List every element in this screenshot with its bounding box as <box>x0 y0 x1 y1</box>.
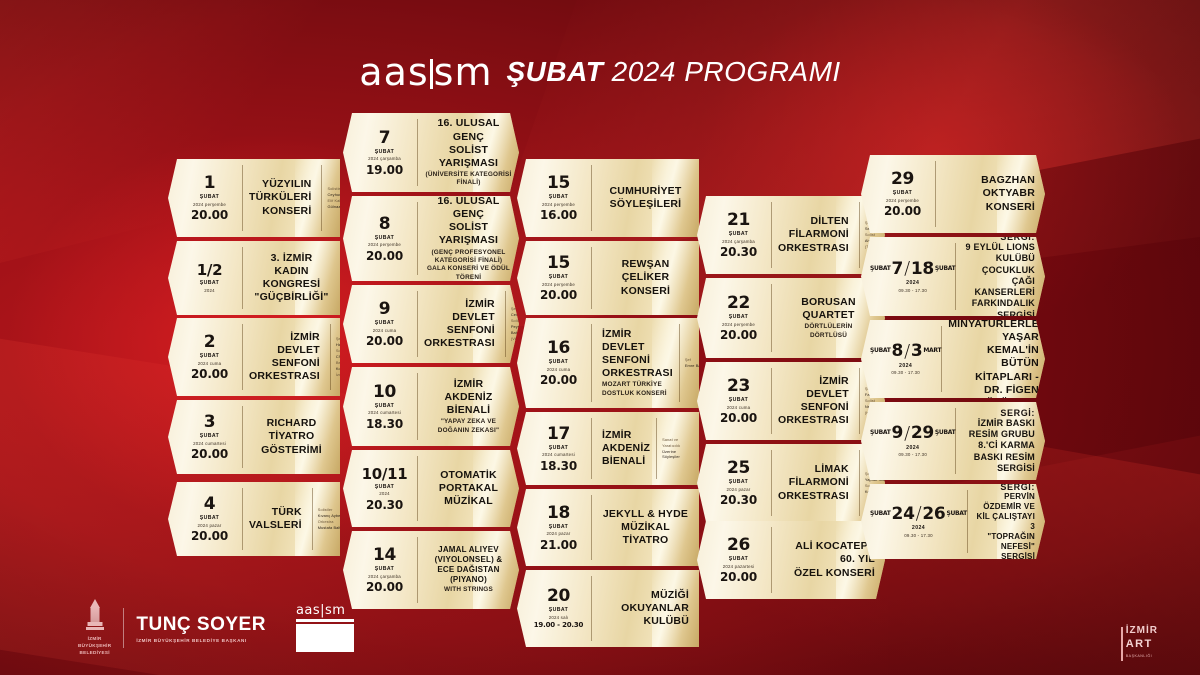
event-card[interactable]: 7ŞUBAT2024 çarşamba19.0016. ULUSAL GENÇS… <box>343 113 519 192</box>
event-month: ŞUBAT <box>200 194 219 201</box>
event-body: RICHARDTİYATRO GÖSTERİMİ <box>243 400 340 474</box>
event-title: İZMİR DEVLETSENFONİORKESTRASI <box>778 375 849 428</box>
event-title: 16. ULUSAL GENÇSOLİST YARIŞMASI <box>424 196 513 248</box>
event-time: 20.00 <box>191 368 228 380</box>
event-day: 9 <box>379 301 391 318</box>
event-day: 26 <box>727 537 750 554</box>
event-body: 16. ULUSAL GENÇSOLİST YARIŞMASI(ÜNİVERSİ… <box>418 113 519 192</box>
event-title: DİLTENFİLARMONİORKESTRASI <box>778 215 849 254</box>
event-month: ŞUBAT <box>549 445 568 452</box>
event-date-block: 23ŞUBAT2024 cuma20.00 <box>697 362 771 440</box>
izmir-municipality-logo: İZMİR BÜYÜKŞEHİR BELEDİYESİ <box>78 599 111 657</box>
mayor-role: İZMİR BÜYÜKŞEHİR BELEDİYE BAŞKANI <box>136 638 266 643</box>
event-date-meta: 2024 perşembe <box>542 282 575 288</box>
event-title: BAGZHAN OKTYABRKONSERİ <box>942 174 1035 213</box>
event-date-meta: 2024 perşembe <box>542 202 575 208</box>
event-date-meta: 2024 cuma <box>727 405 751 411</box>
event-card[interactable]: 2ŞUBAT2024 cuma20.00İZMİR DEVLETSENFONİO… <box>168 318 340 396</box>
event-month: ŞUBAT <box>549 524 568 531</box>
event-day: ŞUBAT24/26ŞUBAT <box>870 505 967 523</box>
event-card[interactable]: 18ŞUBAT2024 pazar21.00JEKYLL & HYDEMÜZİK… <box>517 489 699 566</box>
event-day: 7 <box>379 130 391 147</box>
event-date-meta: 2024 pazartesi <box>723 564 755 570</box>
event-month: ŞUBAT <box>729 231 748 238</box>
event-body: İZMİR DEVLETSENFONİORKESTRASI <box>418 285 505 363</box>
event-month: ŞUBAT <box>549 194 568 201</box>
event-date-block: 2ŞUBAT2024 cuma20.00 <box>168 318 242 396</box>
event-title: YÜZYILINTÜRKÜLERİKONSERİ <box>249 178 311 217</box>
event-cast: SolistlerKıvanç AybetiOrkestraMustafa Ba… <box>312 488 340 550</box>
event-date-block: 29ŞUBAT2024 perşembe20.00 <box>861 155 935 233</box>
event-card[interactable]: 25ŞUBAT2024 pazar20.30LİMAKFİLARMONİORKE… <box>697 444 885 522</box>
aassm-logo-text: aassm <box>359 50 492 94</box>
event-card[interactable]: ŞUBAT8/3MART202409.30 - 17.30SERGİ:MİNYA… <box>861 320 1045 398</box>
event-month: 2024 <box>906 445 919 452</box>
event-time: 20.30 <box>366 499 403 511</box>
event-date-meta: 2024 perşembe <box>886 198 919 204</box>
event-time: 20.00 <box>366 335 403 347</box>
event-date-meta: 2024 perşembe <box>368 242 401 248</box>
event-day: ŞUBAT7/18ŞUBAT <box>870 260 955 278</box>
event-day: ŞUBAT8/3MART <box>870 343 941 361</box>
event-time: 20.00 <box>540 289 577 301</box>
event-date-meta: 2024 pazar <box>547 531 571 537</box>
event-month: 2024 <box>899 363 912 370</box>
event-date-meta: 09.30 - 17.30 <box>904 533 932 539</box>
event-month: ŞUBAT <box>200 353 219 360</box>
event-month: ŞUBAT <box>375 149 394 156</box>
event-cast: SolistlerCeyhun AkbaşElif KalfaGülnaz Şe… <box>321 165 340 231</box>
event-body: REWŞAN ÇELİKERKONSERİ <box>592 241 699 315</box>
event-date-meta: 2024 çarşamba <box>368 574 401 580</box>
event-month: ŞUBAT <box>729 556 748 563</box>
logo-divider-bar <box>430 59 433 89</box>
exhibition-label: SERGİ: <box>1000 484 1035 492</box>
event-body: BAGZHAN OKTYABRKONSERİ <box>936 155 1045 233</box>
event-day: 17 <box>547 426 570 443</box>
event-body: 3. İZMİRKADIN KONGRESİ"GÜÇBİRLİĞİ" <box>243 241 340 315</box>
event-month: ŞUBAT <box>375 403 394 410</box>
event-date-block: 17ŞUBAT2024 cumartesi18.30 <box>517 412 591 485</box>
event-title: MİNYATÜRLERLEYAŞAR KEMAL'İNBÜTÜN KİTAPLA… <box>948 320 1039 398</box>
event-day: 2 <box>204 334 216 351</box>
event-date-block: 21ŞUBAT2024 çarşamba20.30 <box>697 196 771 274</box>
event-card[interactable]: 1/2ŞUBAT20243. İZMİRKADIN KONGRESİ"GÜÇBİ… <box>168 241 340 315</box>
mayor-block: TUNÇ SOYER İZMİR BÜYÜKŞEHİR BELEDİYE BAŞ… <box>136 614 266 643</box>
poster-header: aassmŞUBAT 2024 PROGRAMI <box>0 50 1200 94</box>
event-month: ŞUBAT <box>375 566 394 573</box>
event-card[interactable]: 17ŞUBAT2024 cumartesi18.30İZMİRAKDENİZBİ… <box>517 412 699 485</box>
event-month: ŞUBAT <box>729 479 748 486</box>
event-day: 22 <box>727 295 750 312</box>
event-date-meta: 2024 çarşamba <box>722 239 755 245</box>
event-card[interactable]: 16ŞUBAT2024 cuma20.00İZMİR DEVLETSENFONİ… <box>517 318 699 408</box>
event-body: SERGİ:İZMİR BASKI RESİM GRUBU8.'Cİ KARMA… <box>956 402 1045 480</box>
event-date-block: 15ŞUBAT2024 perşembe16.00 <box>517 159 591 237</box>
event-month: ŞUBAT <box>549 274 568 281</box>
izmir-art-izmir: İZMİR <box>1126 625 1158 636</box>
event-body: İZMİR DEVLETSENFONİORKESTRASI <box>772 362 859 440</box>
event-card-board: 1ŞUBAT2024 perşembe20.00YÜZYILINTÜRKÜLER… <box>0 0 1200 675</box>
event-month: ŞUBAT <box>375 484 394 491</box>
event-date-block: ŞUBAT7/18ŞUBAT202409.30 - 17.30 <box>861 237 955 316</box>
event-month: ŞUBAT <box>200 433 219 440</box>
event-card[interactable]: 29ŞUBAT2024 perşembe20.00BAGZHAN OKTYABR… <box>861 155 1045 233</box>
event-day: 8 <box>379 216 391 233</box>
event-title: 3. İZMİRKADIN KONGRESİ"GÜÇBİRLİĞİ" <box>249 252 334 305</box>
header-subtitle: ŞUBAT 2024 PROGRAMI <box>507 56 841 87</box>
event-date-block: 10/11ŞUBAT202420.30 <box>343 450 417 527</box>
event-time: 20.00 <box>191 530 228 542</box>
event-card[interactable]: 3ŞUBAT2024 cumartesi20.00RICHARDTİYATRO … <box>168 400 340 474</box>
ibb-line-3: BELEDİYESİ <box>78 650 111 657</box>
event-date-block: 25ŞUBAT2024 pazar20.30 <box>697 444 771 522</box>
event-date-block: 18ŞUBAT2024 pazar21.00 <box>517 489 591 566</box>
event-title: İZMİRAKDENİZ BİENALİ <box>424 378 513 417</box>
event-date-block: 22ŞUBAT2024 perşembe20.00 <box>697 278 771 358</box>
event-body: SERGİ:PERVİN ÖZDEMİR VEKİL ÇALIŞTAYI 3"T… <box>968 484 1045 559</box>
event-body: CUMHURİYETSÖYLEŞİLERİ <box>592 159 699 237</box>
event-date-meta: 2024 çarşamba <box>368 156 401 162</box>
event-month: 2024 <box>912 525 925 532</box>
event-subtitle: (GENÇ PROFESYONELKATEGORİSİ FİNALİ)GALA … <box>424 249 513 281</box>
aassm-footer-logo-text: aas|sm <box>296 604 354 617</box>
event-card[interactable]: 10ŞUBAT2024 cumartesi18.30İZMİRAKDENİZ B… <box>343 367 519 446</box>
event-title: PERVİN ÖZDEMİR VEKİL ÇALIŞTAYI 3"TOPRAĞI… <box>974 492 1035 560</box>
izmir-art-sub: BAŞKANLIĞI <box>1126 654 1158 658</box>
event-time: 20.00 <box>884 205 921 217</box>
event-date-meta: 09.30 - 17.30 <box>898 288 926 294</box>
event-date-block: 7ŞUBAT2024 çarşamba19.00 <box>343 113 417 192</box>
event-date-block: 15ŞUBAT2024 perşembe20.00 <box>517 241 591 315</box>
event-day: 23 <box>727 378 750 395</box>
event-time: 20.00 <box>191 209 228 221</box>
event-subtitle: "YAPAY ZEKA VEDOĞANIN ZEKASI" <box>438 418 499 435</box>
event-date-block: ŞUBAT8/3MART202409.30 - 17.30 <box>861 320 941 398</box>
event-title: 16. ULUSAL GENÇSOLİST YARIŞMASI <box>424 117 513 170</box>
event-card[interactable]: 10/11ŞUBAT202420.30OTOMATİK PORTAKALMÜZİ… <box>343 450 519 527</box>
event-title: İZMİR BASKI RESİM GRUBU8.'Cİ KARMABASKI … <box>962 418 1035 474</box>
event-time: 20.30 <box>720 246 757 258</box>
event-card[interactable]: 22ŞUBAT2024 perşembe20.00BORUSAN QUARTET… <box>697 278 885 358</box>
event-time: 20.00 <box>540 374 577 386</box>
event-title: BORUSAN QUARTET <box>778 296 879 322</box>
event-body: DİLTENFİLARMONİORKESTRASI <box>772 196 859 274</box>
event-body: İZMİR DEVLETSENFONİORKESTRASIMOZART TÜRK… <box>592 318 679 408</box>
event-date-meta: 2024 perşembe <box>722 322 755 328</box>
event-day: 16 <box>547 340 570 357</box>
event-date-block: 3ŞUBAT2024 cumartesi20.00 <box>168 400 242 474</box>
event-card[interactable]: ŞUBAT24/26ŞUBAT202409.30 - 17.30SERGİ:PE… <box>861 484 1045 559</box>
event-date-meta: 2024 cumartesi <box>368 410 401 416</box>
event-date-block: ŞUBAT9/29ŞUBAT202409.30 - 17.30 <box>861 402 955 480</box>
event-time: 16.00 <box>540 209 577 221</box>
event-month: ŞUBAT <box>375 235 394 242</box>
event-title: LİMAKFİLARMONİORKESTRASI <box>778 463 849 502</box>
event-date-block: 9ŞUBAT2024 cuma20.00 <box>343 285 417 363</box>
event-title: 9 EYLÜL LIONS KULÜBÜÇOCUKLUK ÇAĞIKANSERL… <box>962 242 1035 316</box>
izmir-art-art: ART <box>1126 638 1158 650</box>
event-title: TÜRKVALSLERİ <box>249 506 302 532</box>
event-body: LİMAKFİLARMONİORKESTRASI <box>772 444 859 522</box>
event-cast: ŞefHakan KalkanSolistCSO YaylılarBeşlisi… <box>330 324 340 390</box>
event-body: İZMİR DEVLETSENFONİORKESTRASI <box>243 318 330 396</box>
event-day: 10/11 <box>362 467 408 482</box>
event-time: 20.00 <box>720 412 757 424</box>
event-time: 20.00 <box>720 571 757 583</box>
event-day: 25 <box>727 460 750 477</box>
event-body: İZMİRAKDENİZ BİENALİ"YAPAY ZEKA VEDOĞANI… <box>418 367 519 446</box>
event-month: ŞUBAT <box>893 190 912 197</box>
event-card[interactable]: ŞUBAT7/18ŞUBAT202409.30 - 17.30SERGİ:9 E… <box>861 237 1045 316</box>
event-card[interactable]: ŞUBAT9/29ŞUBAT202409.30 - 17.30SERGİ:İZM… <box>861 402 1045 480</box>
event-subtitle: MOZART TÜRKİYEDOSTLUK KONSERİ <box>602 381 667 398</box>
event-date-block: ŞUBAT24/26ŞUBAT202409.30 - 17.30 <box>861 484 967 559</box>
event-card[interactable]: 1ŞUBAT2024 perşembe20.00YÜZYILINTÜRKÜLER… <box>168 159 340 237</box>
event-title: REWŞAN ÇELİKERKONSERİ <box>598 258 693 297</box>
event-body: SERGİ:9 EYLÜL LIONS KULÜBÜÇOCUKLUK ÇAĞIK… <box>956 237 1045 316</box>
event-date-meta: 2024 cuma <box>198 361 222 367</box>
event-date-meta: 2024 <box>204 288 215 294</box>
event-day: 29 <box>891 171 914 188</box>
event-date-meta: 09.30 - 17.30 <box>891 370 919 376</box>
event-day: 21 <box>727 212 750 229</box>
event-card[interactable]: 15ŞUBAT2024 perşembe20.00REWŞAN ÇELİKERK… <box>517 241 699 315</box>
event-date-block: 4ŞUBAT2024 pazar20.00 <box>168 482 242 556</box>
event-month: ŞUBAT <box>375 320 394 327</box>
event-date-meta: 2024 <box>379 491 390 497</box>
event-cast: ŞefCem MansurSolistPeyman Bahramiçiçek(V… <box>505 291 519 357</box>
izmir-art-logo: İZMİR ART BAŞKANLIĞI <box>1121 625 1158 661</box>
event-time: 20.00 <box>366 250 403 262</box>
event-month: 2024 <box>906 280 919 287</box>
event-month: ŞUBAT <box>200 280 219 287</box>
poster-footer: İZMİR BÜYÜKŞEHİR BELEDİYESİ TUNÇ SOYER İ… <box>0 585 1200 675</box>
event-month: ŞUBAT <box>549 359 568 366</box>
event-title: İZMİR DEVLETSENFONİORKESTRASI <box>249 331 320 384</box>
event-body: İZMİRAKDENİZBİENALİ <box>592 412 656 485</box>
event-time: 20.00 <box>720 329 757 341</box>
event-month: ŞUBAT <box>200 515 219 522</box>
event-title: İZMİRAKDENİZBİENALİ <box>602 429 650 468</box>
event-card[interactable]: 21ŞUBAT2024 çarşamba20.30DİLTENFİLARMONİ… <box>697 196 885 274</box>
event-date-meta: 09.30 - 17.30 <box>898 452 926 458</box>
event-time: 18.30 <box>366 418 403 430</box>
event-card[interactable]: 8ŞUBAT2024 perşembe20.0016. ULUSAL GENÇS… <box>343 196 519 281</box>
event-title: RICHARDTİYATRO GÖSTERİMİ <box>249 417 334 456</box>
event-title: JEKYLL & HYDEMÜZİKAL TİYATRO <box>598 508 693 547</box>
footer-divider <box>123 608 124 648</box>
event-day: 10 <box>373 384 396 401</box>
event-card[interactable]: 4ŞUBAT2024 pazar20.00TÜRKVALSLERİSolistl… <box>168 482 340 556</box>
event-day: 15 <box>547 175 570 192</box>
event-body: SERGİ:MİNYATÜRLERLEYAŞAR KEMAL'İNBÜTÜN K… <box>942 320 1045 398</box>
event-body: JEKYLL & HYDEMÜZİKAL TİYATRO <box>592 489 699 566</box>
event-day: ŞUBAT9/29ŞUBAT <box>870 425 955 443</box>
event-title: OTOMATİK PORTAKALMÜZİKAL <box>424 469 513 508</box>
event-date-block: 10ŞUBAT2024 cumartesi18.30 <box>343 367 417 446</box>
event-date-block: 1/2ŞUBAT2024 <box>168 241 242 315</box>
event-body: YÜZYILINTÜRKÜLERİKONSERİ <box>243 159 321 237</box>
event-cast: Sanat ve YaratıcılıkÜzerine Söyleşiler <box>656 418 699 479</box>
event-title: ALİ KOCATEPE60. YILÖZEL KONSERİ <box>794 540 875 579</box>
aassm-footer-logo: aas|sm <box>296 604 354 652</box>
event-time: 20.00 <box>191 448 228 460</box>
event-day: 15 <box>547 255 570 272</box>
event-body: OTOMATİK PORTAKALMÜZİKAL <box>418 450 519 527</box>
exhibition-label: SERGİ: <box>1000 408 1035 418</box>
event-day: 1 <box>204 175 216 192</box>
event-title: İZMİR DEVLETSENFONİORKESTRASI <box>602 328 673 381</box>
event-card[interactable]: 23ŞUBAT2024 cuma20.00İZMİR DEVLETSENFONİ… <box>697 362 885 440</box>
event-card[interactable]: 15ŞUBAT2024 perşembe16.00CUMHURİYETSÖYLE… <box>517 159 699 237</box>
event-date-block: 8ŞUBAT2024 perşembe20.00 <box>343 196 417 281</box>
event-subtitle: DÖRTLÜLERİNDÖRTLÜSÜ <box>805 323 853 340</box>
event-day: 4 <box>204 496 216 513</box>
event-day: 3 <box>204 414 216 431</box>
event-date-block: 1ŞUBAT2024 perşembe20.00 <box>168 159 242 237</box>
event-subtitle: (ÜNİVERSİTE KATEGORİSİ FİNALİ) <box>424 171 513 188</box>
event-title: İZMİR DEVLETSENFONİORKESTRASI <box>424 298 495 351</box>
event-date-meta: 2024 cumartesi <box>193 441 226 447</box>
event-date-meta: 2024 pazar <box>198 523 222 529</box>
event-date-meta: 2024 cuma <box>373 328 397 334</box>
event-time: 19.00 <box>366 164 403 176</box>
event-time: 21.00 <box>540 539 577 551</box>
event-time: 18.30 <box>540 460 577 472</box>
event-date-meta: 2024 perşembe <box>193 202 226 208</box>
event-month: ŞUBAT <box>729 397 748 404</box>
event-title: JAMAL ALIYEV (Viyolonsel) &ECE DAĞISTAN … <box>424 545 513 585</box>
clock-tower-icon <box>86 599 104 633</box>
event-card[interactable]: 9ŞUBAT2024 cuma20.00İZMİR DEVLETSENFONİO… <box>343 285 519 363</box>
event-date-meta: 2024 pazar <box>727 487 751 493</box>
event-date-meta: 2024 cuma <box>547 367 571 373</box>
event-cast: ŞefEmre Bayraktar <box>679 324 699 402</box>
event-month: ŞUBAT <box>729 314 748 321</box>
event-day: 14 <box>373 547 396 564</box>
event-body: 16. ULUSAL GENÇSOLİST YARIŞMASI(GENÇ PRO… <box>418 196 519 281</box>
izmir-art-bar <box>1121 627 1123 661</box>
event-date-block: 16ŞUBAT2024 cuma20.00 <box>517 318 591 408</box>
event-date-meta: 2024 cumartesi <box>542 452 575 458</box>
event-title: CUMHURİYETSÖYLEŞİLERİ <box>610 185 682 211</box>
mayor-name: TUNÇ SOYER <box>136 614 266 636</box>
event-day: 1/2 <box>197 263 222 278</box>
event-day: 18 <box>547 505 570 522</box>
event-time: 20.30 <box>720 494 757 506</box>
event-body: TÜRKVALSLERİ <box>243 482 312 556</box>
